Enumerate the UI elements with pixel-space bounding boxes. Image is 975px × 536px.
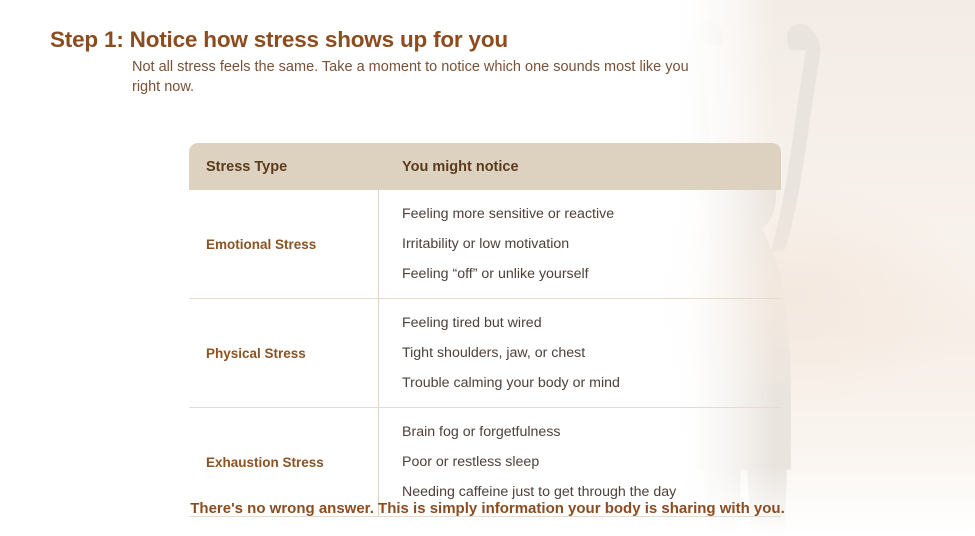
- list-item: Trouble calming your body or mind: [402, 368, 781, 398]
- column-header-stress-type: Stress Type: [189, 159, 379, 175]
- list-item: Brain fog or forgetfulness: [402, 417, 781, 447]
- row-items-physical-stress: Feeling tired but wired Tight shoulders,…: [379, 299, 781, 407]
- footer-note: There's no wrong answer. This is simply …: [0, 500, 975, 517]
- list-item: Feeling “off” or unlike yourself: [402, 259, 781, 289]
- table-header-row: Stress Type You might notice: [189, 143, 781, 190]
- table-row: Physical Stress Feeling tired but wired …: [189, 299, 781, 408]
- list-item: Poor or restless sleep: [402, 447, 781, 477]
- table-body: Emotional Stress Feeling more sensitive …: [189, 190, 781, 517]
- column-header-you-might-notice: You might notice: [379, 159, 781, 175]
- page-subtitle: Not all stress feels the same. Take a mo…: [132, 58, 707, 97]
- stress-type-table: Stress Type You might notice Emotional S…: [189, 143, 781, 517]
- list-item: Irritability or low motivation: [402, 229, 781, 259]
- list-item: Feeling more sensitive or reactive: [402, 199, 781, 229]
- list-item: Tight shoulders, jaw, or chest: [402, 338, 781, 368]
- row-items-emotional-stress: Feeling more sensitive or reactive Irrit…: [379, 190, 781, 298]
- table-row: Emotional Stress Feeling more sensitive …: [189, 190, 781, 299]
- page-title: Step 1: Notice how stress shows up for y…: [50, 27, 508, 53]
- list-item: Feeling tired but wired: [402, 308, 781, 338]
- row-label-emotional-stress: Emotional Stress: [189, 190, 379, 298]
- slide-content: Step 1: Notice how stress shows up for y…: [0, 0, 975, 536]
- row-label-physical-stress: Physical Stress: [189, 299, 379, 407]
